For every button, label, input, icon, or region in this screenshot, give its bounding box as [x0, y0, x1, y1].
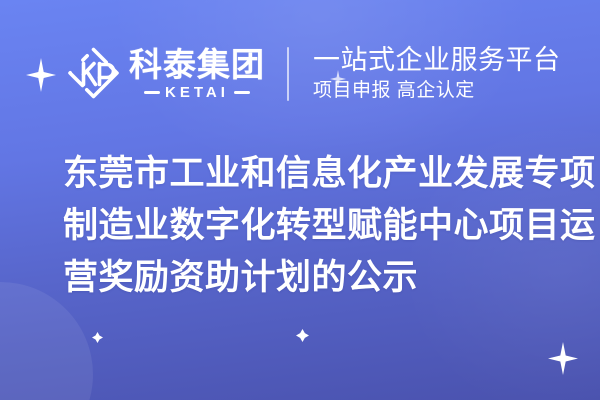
title-line-1: 东莞市工业和信息化产业发展专项	[63, 148, 571, 200]
brand-wordmark: 科泰集团 KETAI	[129, 48, 265, 100]
tagline-secondary: 项目申报 高企认定	[313, 78, 561, 103]
tagline-primary: 一站式企业服务平台	[313, 45, 561, 76]
brand-logo: 科泰集团 KETAI	[63, 44, 265, 104]
sparkle-icon-bottom-c	[548, 342, 578, 375]
brand-name-cn: 科泰集团	[129, 48, 265, 82]
banner-header: 科泰集团 KETAI 一站式企业服务平台 项目申报 高企认定	[0, 38, 600, 110]
header-divider	[287, 47, 289, 101]
sparkle-icon-bottom-b	[296, 329, 309, 342]
brand-name-en: KETAI	[165, 85, 229, 100]
announcement-banner: 科泰集团 KETAI 一站式企业服务平台 项目申报 高企认定 东莞市工业和信息化…	[0, 0, 600, 400]
title-line-3: 营奖励资助计划的公示	[63, 252, 571, 304]
wordmark-rule-right	[234, 91, 250, 94]
ketai-diamond-monogram-icon	[63, 44, 123, 104]
sparkle-icon-bottom-a	[92, 332, 103, 343]
brand-name-en-row: KETAI	[129, 85, 265, 100]
announcement-title: 东莞市工业和信息化产业发展专项 制造业数字化转型赋能中心项目运 营奖励资助计划的…	[63, 148, 571, 304]
title-line-2: 制造业数字化转型赋能中心项目运	[63, 200, 571, 252]
wordmark-rule-left	[144, 91, 160, 94]
brand-tagline: 一站式企业服务平台 项目申报 高企认定	[313, 45, 561, 103]
